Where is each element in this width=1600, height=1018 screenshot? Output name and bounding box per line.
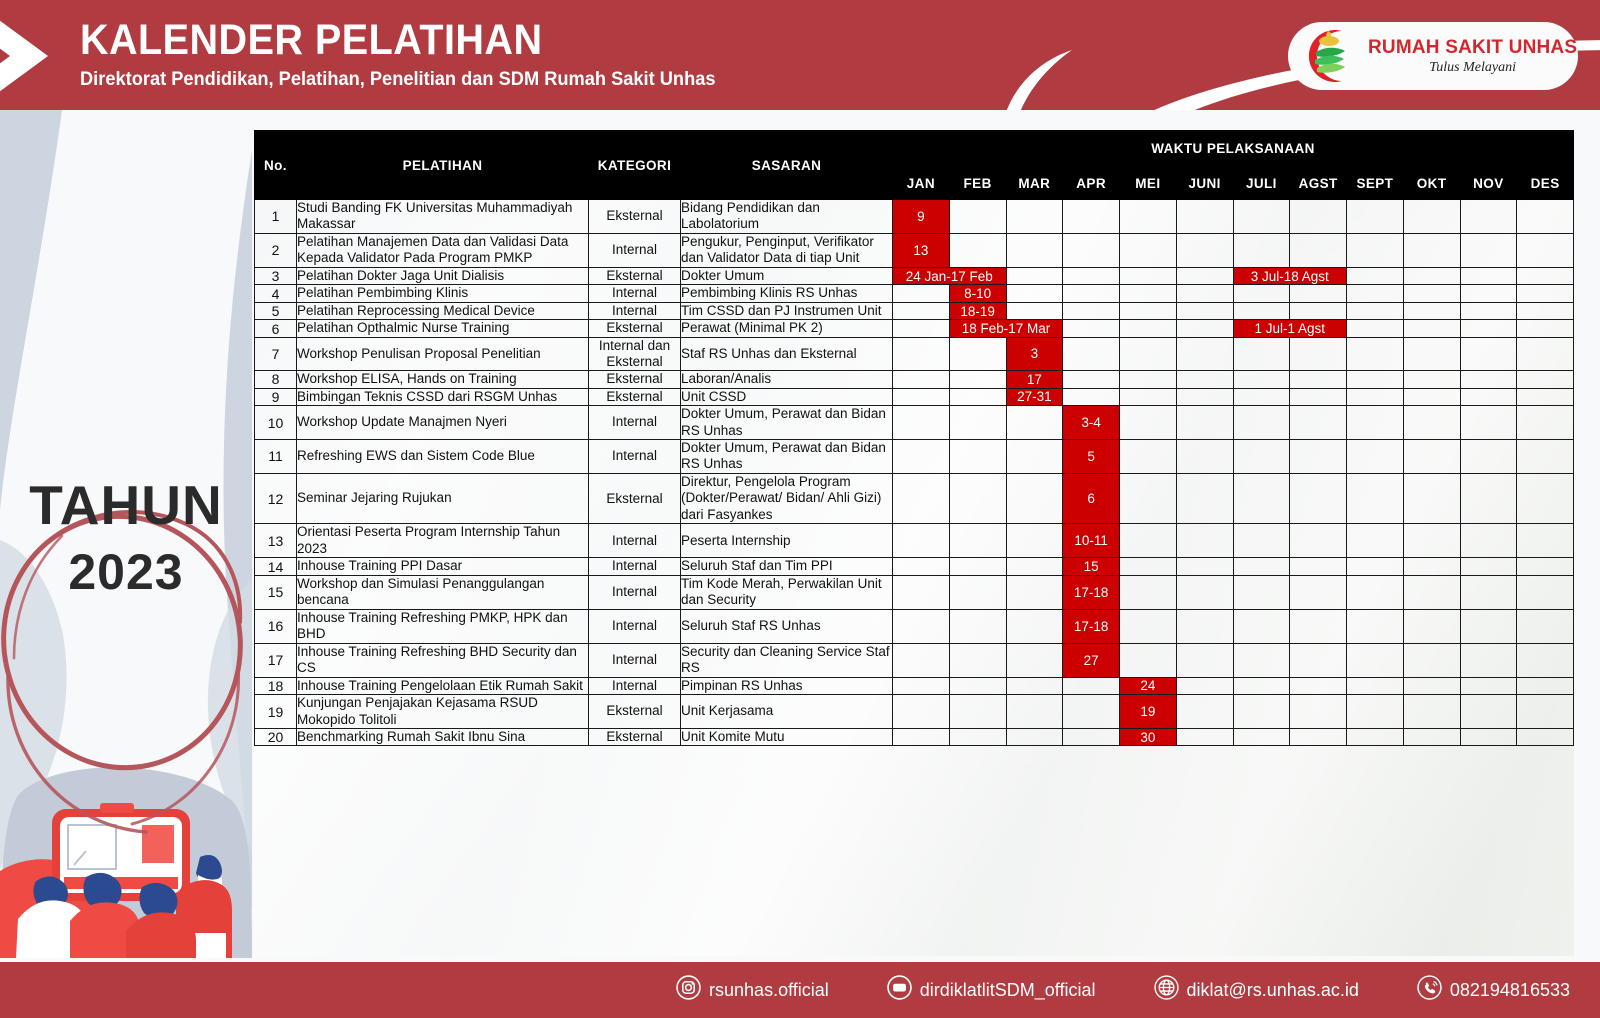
cell-month-empty [1347, 677, 1404, 694]
cell-month-empty [1063, 233, 1120, 267]
header-row-1: No. PELATIHAN KATEGORI SASARAN WAKTU PEL… [255, 131, 1574, 167]
cell-no: 18 [255, 677, 297, 694]
cell-month-empty [1460, 267, 1517, 284]
cell-month-empty [1120, 337, 1177, 370]
cell-month-empty [1233, 643, 1290, 677]
footer-item-label: diklat@rs.unhas.ac.id [1187, 980, 1359, 1001]
cell-month-empty [1403, 575, 1460, 609]
cell-month-empty [1290, 677, 1347, 694]
cell-pelatihan: Studi Banding FK Universitas Muhammadiya… [297, 200, 589, 234]
cell-month-empty [1176, 728, 1233, 745]
footer-item[interactable]: 082194816533 [1417, 975, 1570, 1005]
cell-month-empty [1120, 233, 1177, 267]
cell-pelatihan: Workshop Update Manajmen Nyeri [297, 406, 589, 440]
table-row: 2Pelatihan Manajemen Data dan Validasi D… [255, 233, 1574, 267]
cell-month-empty [1403, 558, 1460, 575]
cell-pelatihan: Pelatihan Reprocessing Medical Device [297, 302, 589, 319]
table-row: 19Kunjungan Penjajakan Kejasama RSUD Mok… [255, 695, 1574, 729]
cell-pelatihan: Pelatihan Manajemen Data dan Validasi Da… [297, 233, 589, 267]
table-row: 14Inhouse Training PPI DasarInternalSelu… [255, 558, 1574, 575]
cell-month-empty [1347, 558, 1404, 575]
cell-month-empty [1120, 609, 1177, 643]
cell-pelatihan: Seminar Jejaring Rujukan [297, 473, 589, 523]
cell-month-empty [1063, 728, 1120, 745]
cell-month-empty [1517, 575, 1574, 609]
table-row: 6Pelatihan Opthalmic Nurse TrainingEkste… [255, 320, 1574, 337]
cell-month-empty [1006, 575, 1063, 609]
cell-schedule: 18 Feb-17 Mar [949, 320, 1063, 337]
cell-month-empty [1403, 320, 1460, 337]
cell-pelatihan: Inhouse Training Refreshing BHD Security… [297, 643, 589, 677]
cell-sasaran: Peserta Internship [681, 524, 893, 558]
cell-month-empty [1063, 302, 1120, 319]
cell-no: 19 [255, 695, 297, 729]
col-header-month-agst: AGST [1290, 167, 1347, 200]
cell-month-empty [949, 643, 1006, 677]
cell-month-empty [949, 233, 1006, 267]
cell-kategori: Internal [589, 677, 681, 694]
cell-month-empty [1290, 200, 1347, 234]
cell-pelatihan: Inhouse Training Pengelolaan Etik Rumah … [297, 677, 589, 694]
cell-month-empty [1233, 558, 1290, 575]
cell-month-empty [1176, 695, 1233, 729]
cell-month-empty [1120, 285, 1177, 302]
cell-month-empty [1120, 575, 1177, 609]
cell-month-empty [1460, 371, 1517, 388]
cell-sasaran: Seluruh Staf RS Unhas [681, 609, 893, 643]
cell-month-empty [1460, 728, 1517, 745]
col-header-kategori: KATEGORI [589, 131, 681, 200]
cell-sasaran: Pembimbing Klinis RS Unhas [681, 285, 893, 302]
cell-schedule: 5 [1063, 440, 1120, 474]
cell-month-empty [949, 609, 1006, 643]
cell-month-empty [1063, 371, 1120, 388]
calendar-table-container: No. PELATIHAN KATEGORI SASARAN WAKTU PEL… [254, 130, 1574, 956]
cell-schedule: 3 Jul-18 Agst [1233, 267, 1347, 284]
col-header-month-sept: SEPT [1347, 167, 1404, 200]
cell-month-empty [1403, 200, 1460, 234]
cell-no: 1 [255, 200, 297, 234]
table-row: 8Workshop ELISA, Hands on TrainingEkster… [255, 371, 1574, 388]
cell-month-empty [1176, 337, 1233, 370]
logo-tagline: Tulus Melayani [1368, 60, 1577, 76]
cell-month-empty [949, 200, 1006, 234]
cell-month-empty [893, 337, 950, 370]
cell-sasaran: Seluruh Staf dan Tim PPI [681, 558, 893, 575]
cell-no: 12 [255, 473, 297, 523]
cell-schedule: 17-18 [1063, 575, 1120, 609]
cell-month-empty [1347, 473, 1404, 523]
cell-month-empty [1176, 440, 1233, 474]
col-header-month-nov: NOV [1460, 167, 1517, 200]
table-row: 12Seminar Jejaring RujukanEksternalDirek… [255, 473, 1574, 523]
cell-no: 5 [255, 302, 297, 319]
cell-month-empty [1517, 267, 1574, 284]
footer-item[interactable]: diklat@rs.unhas.ac.id [1154, 975, 1359, 1005]
cell-sasaran: Pimpinan RS Unhas [681, 677, 893, 694]
year-value: 2023 [0, 547, 252, 597]
table-row: 5Pelatihan Reprocessing Medical DeviceIn… [255, 302, 1574, 319]
cell-month-empty [1403, 337, 1460, 370]
table-row: 3Pelatihan Dokter Jaga Unit DialisisEkst… [255, 267, 1574, 284]
footer-item[interactable]: dirdiklatlitSDM_official [887, 975, 1096, 1005]
col-header-month-juni: JUNI [1176, 167, 1233, 200]
cell-month-empty [1460, 337, 1517, 370]
cell-month-empty [1233, 677, 1290, 694]
cell-schedule: 30 [1120, 728, 1177, 745]
cell-month-empty [1460, 440, 1517, 474]
cell-month-empty [1290, 371, 1347, 388]
cell-month-empty [1233, 406, 1290, 440]
cell-month-empty [893, 388, 950, 405]
footer-item-label: dirdiklatlitSDM_official [920, 980, 1096, 1001]
table-row: 10Workshop Update Manajmen NyeriInternal… [255, 406, 1574, 440]
cell-schedule: 18-19 [949, 302, 1006, 319]
cell-no: 4 [255, 285, 297, 302]
cell-pelatihan: Bimbingan Teknis CSSD dari RSGM Unhas [297, 388, 589, 405]
cell-sasaran: Dokter Umum [681, 267, 893, 284]
cell-sasaran: Unit Komite Mutu [681, 728, 893, 745]
cell-month-empty [1120, 406, 1177, 440]
hospital-logo: RUMAH SAKIT UNHAS Tulus Melayani [1288, 22, 1578, 90]
cell-schedule: 3 [1006, 337, 1063, 370]
cell-month-empty [1403, 609, 1460, 643]
cell-month-empty [1517, 200, 1574, 234]
cell-month-empty [1347, 267, 1404, 284]
cell-month-empty [1403, 388, 1460, 405]
cell-schedule: 10-11 [1063, 524, 1120, 558]
cell-month-empty [1517, 440, 1574, 474]
cell-month-empty [893, 695, 950, 729]
cell-month-empty [1347, 575, 1404, 609]
cell-month-empty [1347, 233, 1404, 267]
table-row: 13Orientasi Peserta Program Internship T… [255, 524, 1574, 558]
cell-month-empty [1460, 285, 1517, 302]
cell-month-empty [1290, 695, 1347, 729]
cell-month-empty [1063, 677, 1120, 694]
cell-month-empty [893, 320, 950, 337]
cell-month-empty [1460, 677, 1517, 694]
calendar-poster: KALENDER PELATIHAN Direktorat Pendidikan… [0, 0, 1600, 1018]
cell-month-empty [1006, 558, 1063, 575]
cell-month-empty [1517, 473, 1574, 523]
cell-month-empty [1176, 233, 1233, 267]
cell-month-empty [1290, 558, 1347, 575]
cell-pelatihan: Orientasi Peserta Program Internship Tah… [297, 524, 589, 558]
left-decoration-panel: TAHUN 2023 [0, 110, 252, 958]
crescent-leaf-logo-icon [1298, 26, 1364, 86]
cell-month-empty [1460, 320, 1517, 337]
cell-month-empty [1290, 643, 1347, 677]
cell-month-empty [1517, 677, 1574, 694]
cell-pelatihan: Kunjungan Penjajakan Kejasama RSUD Mokop… [297, 695, 589, 729]
cell-month-empty [1347, 320, 1404, 337]
cell-month-empty [949, 575, 1006, 609]
cell-no: 6 [255, 320, 297, 337]
cell-kategori: Eksternal [589, 695, 681, 729]
cell-kategori: Internal [589, 233, 681, 267]
cell-month-empty [1290, 233, 1347, 267]
cell-sasaran: Unit CSSD [681, 388, 893, 405]
cell-month-empty [949, 677, 1006, 694]
cell-month-empty [1403, 371, 1460, 388]
cell-month-empty [1006, 285, 1063, 302]
cell-kategori: Internal [589, 440, 681, 474]
cell-month-empty [893, 371, 950, 388]
footer-item[interactable]: rsunhas.official [676, 975, 829, 1005]
table-row: 7Workshop Penulisan Proposal PenelitianI… [255, 337, 1574, 370]
cell-kategori: Internal [589, 575, 681, 609]
cell-month-empty [1006, 609, 1063, 643]
chevron-right-icon [0, 4, 80, 108]
cell-month-empty [949, 695, 1006, 729]
page-footer: rsunhas.officialdirdiklatlitSDM_official… [0, 962, 1600, 1018]
cell-month-empty [1120, 267, 1177, 284]
cell-month-empty [1233, 473, 1290, 523]
cell-month-empty [1176, 643, 1233, 677]
cell-month-empty [1517, 609, 1574, 643]
col-header-month-mei: MEI [1120, 167, 1177, 200]
cell-kategori: Eksternal [589, 371, 681, 388]
cell-month-empty [1517, 233, 1574, 267]
year-block: TAHUN 2023 [0, 478, 252, 597]
cell-month-empty [1006, 233, 1063, 267]
cell-no: 11 [255, 440, 297, 474]
cell-kategori: Eksternal [589, 267, 681, 284]
cell-month-empty [1063, 388, 1120, 405]
table-body: 1Studi Banding FK Universitas Muhammadiy… [255, 200, 1574, 746]
cell-schedule: 13 [893, 233, 950, 267]
cell-month-empty [1233, 233, 1290, 267]
youtube-icon [887, 975, 912, 1005]
cell-month-empty [1063, 695, 1120, 729]
cell-sasaran: Direktur, Pengelola Program (Dokter/Pera… [681, 473, 893, 523]
table-row: 17Inhouse Training Refreshing BHD Securi… [255, 643, 1574, 677]
cell-month-empty [1290, 440, 1347, 474]
cell-month-empty [949, 473, 1006, 523]
cell-month-empty [1176, 200, 1233, 234]
cell-month-empty [1120, 473, 1177, 523]
cell-month-empty [1006, 524, 1063, 558]
table-row: 18Inhouse Training Pengelolaan Etik Ruma… [255, 677, 1574, 694]
page-title: KALENDER PELATIHAN [80, 18, 689, 63]
cell-month-empty [1233, 575, 1290, 609]
cell-month-empty [1517, 285, 1574, 302]
cell-month-empty [1006, 200, 1063, 234]
cell-month-empty [1460, 643, 1517, 677]
cell-month-empty [1233, 695, 1290, 729]
cell-month-empty [1176, 575, 1233, 609]
cell-month-empty [1347, 388, 1404, 405]
cell-month-empty [949, 524, 1006, 558]
cell-month-empty [1120, 643, 1177, 677]
col-header-pelatihan: PELATIHAN [297, 131, 589, 200]
cell-month-empty [1403, 302, 1460, 319]
cell-month-empty [1120, 558, 1177, 575]
instagram-icon [676, 975, 701, 1005]
cell-kategori: Eksternal [589, 320, 681, 337]
cell-kategori: Internal [589, 609, 681, 643]
cell-month-empty [1006, 440, 1063, 474]
header-text-block: KALENDER PELATIHAN Direktorat Pendidikan… [80, 18, 742, 91]
cell-month-empty [1460, 695, 1517, 729]
cell-month-empty [1290, 302, 1347, 319]
cell-month-empty [949, 371, 1006, 388]
cell-month-empty [1176, 558, 1233, 575]
logo-text: RUMAH SAKIT UNHAS Tulus Melayani [1368, 37, 1577, 76]
cell-month-empty [1460, 200, 1517, 234]
cell-no: 16 [255, 609, 297, 643]
cell-month-empty [1120, 200, 1177, 234]
page-subtitle: Direktorat Pendidikan, Pelatihan, Peneli… [80, 69, 716, 91]
cell-month-empty [1006, 677, 1063, 694]
cell-month-empty [1120, 371, 1177, 388]
cell-no: 14 [255, 558, 297, 575]
cell-sasaran: Dokter Umum, Perawat dan Bidan RS Unhas [681, 406, 893, 440]
cell-month-empty [893, 285, 950, 302]
cell-schedule: 15 [1063, 558, 1120, 575]
table-row: 15Workshop dan Simulasi Penanggulangan b… [255, 575, 1574, 609]
cell-month-empty [1176, 371, 1233, 388]
cell-month-empty [1120, 320, 1177, 337]
cell-month-empty [1403, 524, 1460, 558]
cell-no: 2 [255, 233, 297, 267]
cell-month-empty [1347, 440, 1404, 474]
table-row: 9Bimbingan Teknis CSSD dari RSGM UnhasEk… [255, 388, 1574, 405]
cell-month-empty [1403, 643, 1460, 677]
cell-month-empty [1517, 558, 1574, 575]
cell-month-empty [1063, 285, 1120, 302]
cell-month-empty [1176, 609, 1233, 643]
cell-month-empty [949, 558, 1006, 575]
cell-pelatihan: Workshop ELISA, Hands on Training [297, 371, 589, 388]
cell-sasaran: Tim CSSD dan PJ Instrumen Unit [681, 302, 893, 319]
cell-month-empty [1460, 575, 1517, 609]
cell-month-empty [1403, 677, 1460, 694]
cell-month-empty [1290, 388, 1347, 405]
col-header-sasaran: SASARAN [681, 131, 893, 200]
footer-item-label: rsunhas.official [709, 980, 829, 1001]
cell-no: 10 [255, 406, 297, 440]
col-header-month-mar: MAR [1006, 167, 1063, 200]
cell-month-empty [1176, 267, 1233, 284]
cell-month-empty [949, 440, 1006, 474]
cell-month-empty [1290, 473, 1347, 523]
cell-schedule: 6 [1063, 473, 1120, 523]
cell-month-empty [1403, 695, 1460, 729]
cell-no: 9 [255, 388, 297, 405]
cell-sasaran: Bidang Pendidikan dan Labolatorium [681, 200, 893, 234]
cell-month-empty [893, 609, 950, 643]
cell-sasaran: Tim Kode Merah, Perwakilan Unit dan Secu… [681, 575, 893, 609]
cell-month-empty [1460, 558, 1517, 575]
cell-schedule: 19 [1120, 695, 1177, 729]
cell-sasaran: Perawat (Minimal PK 2) [681, 320, 893, 337]
cell-month-empty [893, 677, 950, 694]
cell-month-empty [1233, 302, 1290, 319]
cell-month-empty [1460, 406, 1517, 440]
cell-month-empty [1233, 524, 1290, 558]
cell-kategori: Internal [589, 558, 681, 575]
cell-kategori: Internal [589, 302, 681, 319]
cell-month-empty [1290, 285, 1347, 302]
cell-month-empty [1006, 302, 1063, 319]
cell-month-empty [1233, 728, 1290, 745]
cell-month-empty [1006, 406, 1063, 440]
cell-month-empty [1290, 406, 1347, 440]
cell-pelatihan: Inhouse Training Refreshing PMKP, HPK da… [297, 609, 589, 643]
cell-schedule: 8-10 [949, 285, 1006, 302]
cell-month-empty [1517, 406, 1574, 440]
cell-month-empty [893, 643, 950, 677]
cell-pelatihan: Workshop Penulisan Proposal Penelitian [297, 337, 589, 370]
cell-kategori: Internal [589, 406, 681, 440]
cell-month-empty [1460, 302, 1517, 319]
cell-sasaran: Staf RS Unhas dan Eksternal [681, 337, 893, 370]
cell-month-empty [1063, 200, 1120, 234]
cell-month-empty [1347, 406, 1404, 440]
cell-month-empty [1233, 285, 1290, 302]
cell-schedule: 27-31 [1006, 388, 1063, 405]
cell-month-empty [1347, 695, 1404, 729]
cell-month-empty [1120, 524, 1177, 558]
cell-month-empty [1006, 728, 1063, 745]
cell-month-empty [1290, 728, 1347, 745]
cell-month-empty [893, 302, 950, 319]
cell-schedule: 24 Jan-17 Feb [893, 267, 1007, 284]
cell-month-empty [1403, 440, 1460, 474]
cell-month-empty [1006, 695, 1063, 729]
cell-kategori: Internal dan Eksternal [589, 337, 681, 370]
phone-icon [1417, 975, 1442, 1005]
cell-month-empty [1517, 728, 1574, 745]
col-header-month-feb: FEB [949, 167, 1006, 200]
cell-month-empty [1517, 695, 1574, 729]
cell-pelatihan: Pelatihan Opthalmic Nurse Training [297, 320, 589, 337]
col-header-month-des: DES [1517, 167, 1574, 200]
cell-month-empty [1347, 200, 1404, 234]
cell-schedule: 17 [1006, 371, 1063, 388]
table-head: No. PELATIHAN KATEGORI SASARAN WAKTU PEL… [255, 131, 1574, 200]
cell-month-empty [1460, 388, 1517, 405]
cell-month-empty [1176, 406, 1233, 440]
cell-pelatihan: Workshop dan Simulasi Penanggulangan ben… [297, 575, 589, 609]
cell-month-empty [1233, 440, 1290, 474]
cell-month-empty [1176, 320, 1233, 337]
cell-pelatihan: Pelatihan Pembimbing Klinis [297, 285, 589, 302]
cell-month-empty [893, 558, 950, 575]
cell-month-empty [893, 728, 950, 745]
cell-month-empty [1290, 575, 1347, 609]
cell-kategori: Eksternal [589, 388, 681, 405]
cell-kategori: Eksternal [589, 473, 681, 523]
cell-kategori: Eksternal [589, 728, 681, 745]
cell-month-empty [893, 524, 950, 558]
col-header-month-apr: APR [1063, 167, 1120, 200]
table-row: 20Benchmarking Rumah Sakit Ibnu SinaEkst… [255, 728, 1574, 745]
cell-month-empty [1290, 524, 1347, 558]
cell-month-empty [1290, 337, 1347, 370]
cell-no: 7 [255, 337, 297, 370]
cell-month-empty [1517, 388, 1574, 405]
cell-pelatihan: Inhouse Training PPI Dasar [297, 558, 589, 575]
cell-month-empty [1517, 320, 1574, 337]
cell-month-empty [1347, 285, 1404, 302]
cell-month-empty [1517, 337, 1574, 370]
cell-schedule: 24 [1120, 677, 1177, 694]
cell-month-empty [1403, 473, 1460, 523]
cell-month-empty [1460, 473, 1517, 523]
